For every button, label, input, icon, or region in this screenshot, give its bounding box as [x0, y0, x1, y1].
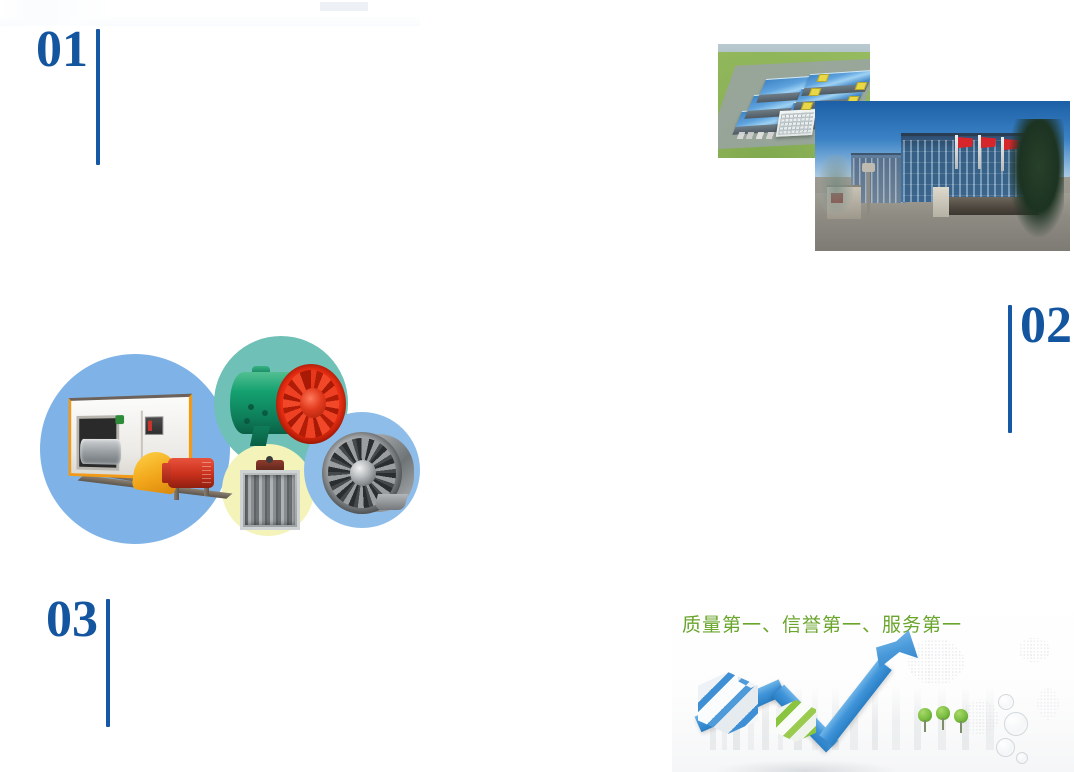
arrow-shadow — [716, 760, 896, 772]
section-number-01: 01 — [36, 26, 88, 74]
flag-icon — [955, 135, 958, 169]
bubble-icon — [1004, 712, 1028, 736]
impeller-base — [374, 494, 408, 510]
gate-post — [933, 187, 949, 217]
foreground-tree — [1008, 119, 1064, 237]
tree-icon — [954, 709, 968, 733]
section-rule-03 — [106, 599, 110, 727]
bubble-icon — [996, 738, 1015, 757]
section-marker-02: 02 — [1008, 302, 1072, 433]
arrow-segment — [819, 660, 891, 746]
flag-icon — [1001, 137, 1004, 171]
tree-trunk — [924, 720, 926, 732]
fan-impeller — [80, 439, 121, 465]
tree-trunk — [960, 721, 962, 733]
fan-control-box — [145, 416, 163, 435]
tree-icon — [918, 708, 932, 732]
tree-trunk — [942, 718, 944, 730]
metal-axial-impeller-image — [320, 430, 416, 518]
fan-motor — [168, 458, 214, 488]
tree-icon — [936, 706, 950, 730]
damper-blades — [245, 475, 295, 525]
arrow-head-icon — [876, 630, 918, 668]
top-edge-swatch — [320, 2, 368, 11]
section-marker-01: 01 — [36, 26, 100, 165]
impeller-hub — [350, 460, 376, 486]
fan-mounting-foot — [250, 426, 270, 446]
air-damper-image — [240, 460, 302, 532]
office-building-photo — [815, 101, 1070, 251]
section-rule-02 — [1008, 305, 1012, 433]
flag-icon — [978, 135, 981, 169]
background-tree — [819, 155, 853, 215]
factory-trucks — [737, 132, 800, 139]
bubble-icon — [1016, 752, 1028, 764]
section-marker-03: 03 — [46, 596, 110, 727]
fan-hub — [300, 388, 326, 418]
cabinet-centrifugal-fan-image — [64, 388, 224, 508]
section-number-03: 03 — [46, 596, 98, 644]
section-number-02: 02 — [1020, 302, 1072, 350]
section-rule-01 — [96, 29, 100, 165]
fan-label-tag — [115, 415, 124, 424]
growth-banner-image: 质量第一、信誉第一、服务第一 — [672, 596, 1074, 772]
lamp-post — [867, 169, 870, 215]
product-cluster — [34, 326, 424, 546]
bubble-icon — [998, 694, 1014, 710]
